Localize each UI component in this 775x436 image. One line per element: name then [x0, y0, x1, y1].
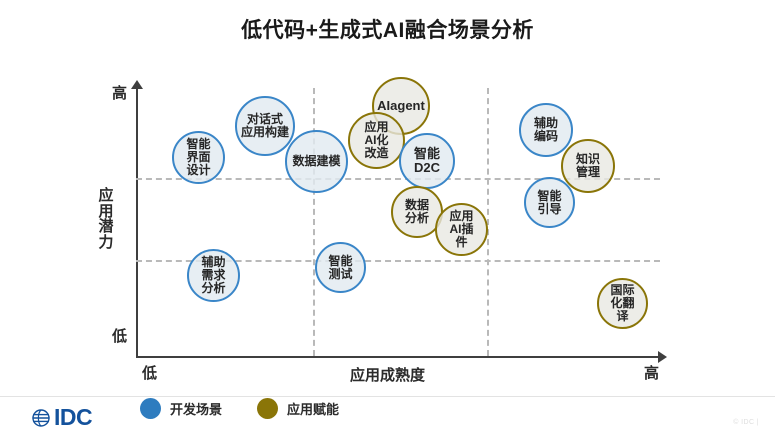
y-axis-low-label: 低 — [112, 325, 127, 346]
legend-label: 开发场景 — [170, 399, 222, 418]
bubble-label: 智能 测试 — [328, 255, 352, 280]
legend-item-dev[interactable]: 开发场景 — [140, 398, 222, 419]
bubble-4[interactable]: 应用 AI化 改造 — [348, 112, 405, 169]
bubble-7[interactable]: 应用 AI插 件 — [435, 203, 488, 256]
bubble-label: 国际 化翻 译 — [610, 284, 634, 322]
bubble-5[interactable]: 智能 D2C — [399, 133, 455, 189]
bubble-label: 辅助 编码 — [534, 117, 558, 142]
x-axis-arrow-icon — [658, 351, 667, 363]
bubble-1[interactable]: 对话式 应用构建 — [235, 96, 295, 156]
gridline-vertical-0 — [313, 88, 315, 356]
bubble-11[interactable]: 辅助 需求 分析 — [187, 249, 240, 302]
bubble-12[interactable]: 智能 测试 — [315, 242, 366, 293]
y-axis-high-label: 高 — [112, 82, 127, 103]
page-title: 低代码+生成式AI融合场景分析 — [0, 14, 775, 44]
legend-label: 应用赋能 — [287, 399, 339, 418]
bubble-label: 数据建模 — [292, 155, 340, 168]
bubble-13[interactable]: 国际 化翻 译 — [597, 278, 648, 329]
bubble-label: 应用 AI化 改造 — [364, 121, 388, 159]
legend-dot-icon — [257, 398, 278, 419]
y-axis-line — [136, 86, 138, 358]
bubble-label: AIagent — [377, 99, 425, 113]
bubble-9[interactable]: 知识 管理 — [561, 139, 615, 193]
bubble-8[interactable]: 辅助 编码 — [519, 103, 573, 157]
bubble-label: 智能 D2C — [414, 147, 440, 175]
x-axis-title: 应用成熟度 — [0, 364, 775, 385]
bubble-label: 智能 界面 设计 — [186, 138, 210, 176]
bubble-label: 智能 引导 — [537, 190, 561, 215]
x-axis-line — [136, 356, 660, 358]
footer-divider — [0, 396, 775, 397]
y-axis-arrow-icon — [131, 80, 143, 89]
bubble-2[interactable]: 数据建模 — [285, 130, 348, 193]
bubble-label: 应用 AI插 件 — [449, 210, 473, 248]
idc-logo: IDC — [30, 404, 92, 431]
bubble-0[interactable]: 智能 界面 设计 — [172, 131, 225, 184]
globe-icon — [30, 407, 52, 429]
y-axis-title: 应用潜力 — [96, 188, 116, 250]
gridline-vertical-1 — [487, 88, 489, 356]
bubble-label: 辅助 需求 分析 — [201, 256, 225, 294]
legend-dot-icon — [140, 398, 161, 419]
bubble-10[interactable]: 智能 引导 — [524, 177, 575, 228]
chart-legend: 开发场景应用赋能 — [140, 398, 365, 419]
bubble-label: 知识 管理 — [576, 153, 600, 178]
bubble-label: 数据 分析 — [405, 199, 429, 224]
slide-root: 低代码+生成式AI融合场景分析 高 低 低 高 应用成熟度 应用潜力 智能 界面… — [0, 0, 775, 436]
bubble-label: 对话式 应用构建 — [241, 113, 289, 138]
legend-item-enable[interactable]: 应用赋能 — [257, 398, 339, 419]
idc-logo-text: IDC — [54, 404, 92, 431]
copyright-text: © IDC | — [733, 419, 759, 426]
